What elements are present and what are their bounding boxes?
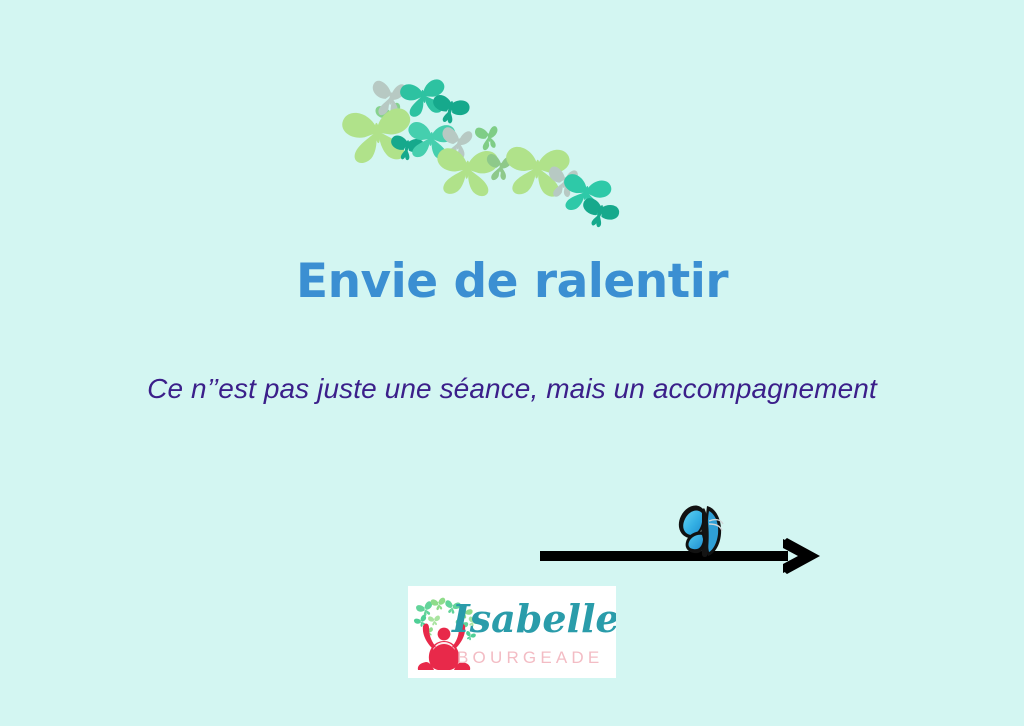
butterfly-7 — [406, 121, 456, 161]
green-butterfly-trail — [330, 58, 630, 233]
butterfly-8 — [438, 126, 473, 161]
slide-canvas: Envie de ralentir Ce n’’est pas juste un… — [0, 0, 1024, 726]
logo-name: Isabelle — [452, 600, 612, 638]
logo-surname: BOURGEADE — [457, 648, 616, 668]
butterfly-6 — [388, 134, 425, 162]
butterfly-2 — [369, 80, 406, 118]
butterfly-4 — [429, 93, 471, 127]
butterfly-10 — [435, 148, 499, 198]
butterfly-12 — [504, 146, 571, 198]
logo-wordmark: Isabelle BOURGEADE — [452, 600, 612, 672]
page-subtitle: Ce n’’est pas juste une séance, mais un … — [0, 372, 1024, 406]
butterfly-13 — [545, 166, 579, 200]
butterfly-5 — [341, 107, 414, 165]
right-arrow-icon — [540, 532, 825, 580]
butterfly-1 — [375, 102, 405, 132]
butterfly-14 — [558, 173, 612, 218]
butterfly-11 — [484, 153, 512, 182]
butterfly-15 — [578, 196, 621, 232]
blue-butterfly-icon — [664, 494, 736, 566]
page-title: Envie de ralentir — [0, 258, 1024, 305]
logo-card: Isabelle BOURGEADE — [408, 586, 616, 678]
butterfly-3 — [399, 78, 449, 118]
butterfly-9 — [475, 126, 500, 151]
